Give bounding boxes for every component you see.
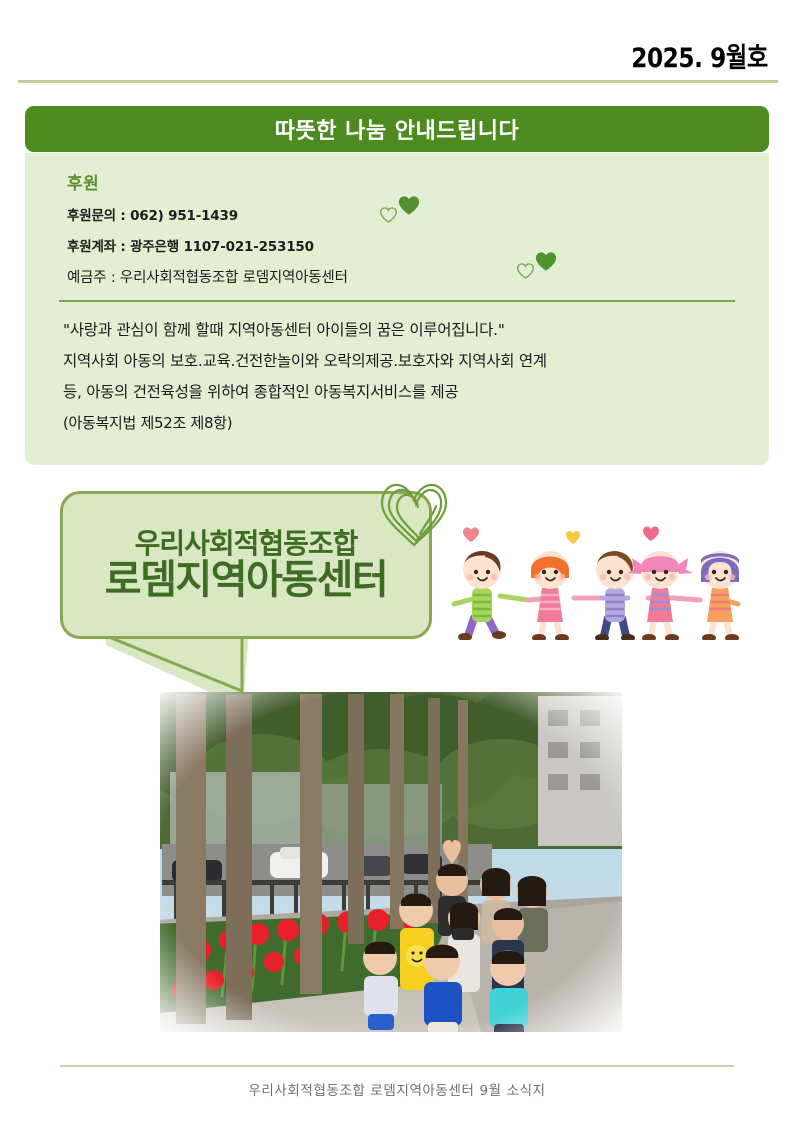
kids-holding-hands-illustration bbox=[442, 520, 742, 640]
heart-decoration-1 bbox=[380, 195, 428, 229]
mission-line-4: (아동복지법 제52조 제8항) bbox=[63, 408, 753, 439]
sponsor-heading: 후원 bbox=[67, 169, 348, 194]
panel-divider bbox=[59, 300, 735, 302]
children-group-photo bbox=[152, 684, 630, 1054]
child-2 bbox=[531, 551, 569, 640]
sponsor-inquiry-line: 후원문의 : 062) 951-1439 bbox=[67, 204, 348, 224]
logo-org-line: 우리사회적협동조합 bbox=[135, 529, 358, 558]
heart-magenta-icon bbox=[643, 527, 659, 542]
footer-divider bbox=[60, 1065, 734, 1067]
child-4 bbox=[627, 551, 693, 640]
mission-line-2: 지역사회 아동의 보호.교육.건전한놀이와 오락의제공.보호자와 지역사회 연계 bbox=[63, 346, 753, 377]
heart-pink-icon bbox=[463, 528, 479, 543]
heart-yellow-icon bbox=[566, 531, 580, 544]
heart-solid-icon bbox=[535, 251, 557, 272]
mission-line-1: "사랑과 관심이 함께 할때 지역아동센터 아이들의 꿈은 이루어집니다." bbox=[63, 315, 753, 346]
sponsor-account-line: 후원계좌 : 광주은행 1107-021-253150 bbox=[67, 235, 348, 255]
sponsor-holder-line: 예금주 : 우리사회적협동조합 로뎀지역아동센터 bbox=[67, 266, 348, 287]
sponsor-panel: 후원 후원문의 : 062) 951-1439 후원계좌 : 광주은행 1107… bbox=[25, 153, 769, 465]
heart-solid-icon bbox=[398, 195, 420, 216]
heart-outline-icon bbox=[517, 263, 534, 279]
section-banner: 따뜻한 나눔 안내드립니다 bbox=[25, 106, 769, 152]
child-5 bbox=[701, 551, 739, 640]
mission-statement-block: "사랑과 관심이 함께 할때 지역아동센터 아이들의 꿈은 이루어집니다." 지… bbox=[63, 315, 753, 439]
banner-title: 따뜻한 나눔 안내드립니다 bbox=[275, 113, 519, 145]
heart-decoration-2 bbox=[517, 251, 565, 285]
sponsor-info-block: 후원 후원문의 : 062) 951-1439 후원계좌 : 광주은행 1107… bbox=[67, 169, 348, 298]
header-divider bbox=[18, 80, 778, 83]
footer-text: 우리사회적협동조합 로뎀지역아동센터 9월 소식지 bbox=[0, 1079, 794, 1099]
center-logo-bubble: 우리사회적협동조합 로뎀지역아동센터 bbox=[60, 491, 432, 639]
heart-outline-icon bbox=[380, 207, 397, 223]
page-header: 2025. 9월호 bbox=[0, 0, 794, 92]
mission-line-3: 등, 아동의 건전육성을 위하여 종합적인 아동복지서비스를 제공 bbox=[63, 377, 753, 408]
issue-label: 2025. 9월호 bbox=[631, 36, 768, 75]
logo-center-line: 로뎀지역아동센터 bbox=[105, 559, 387, 601]
